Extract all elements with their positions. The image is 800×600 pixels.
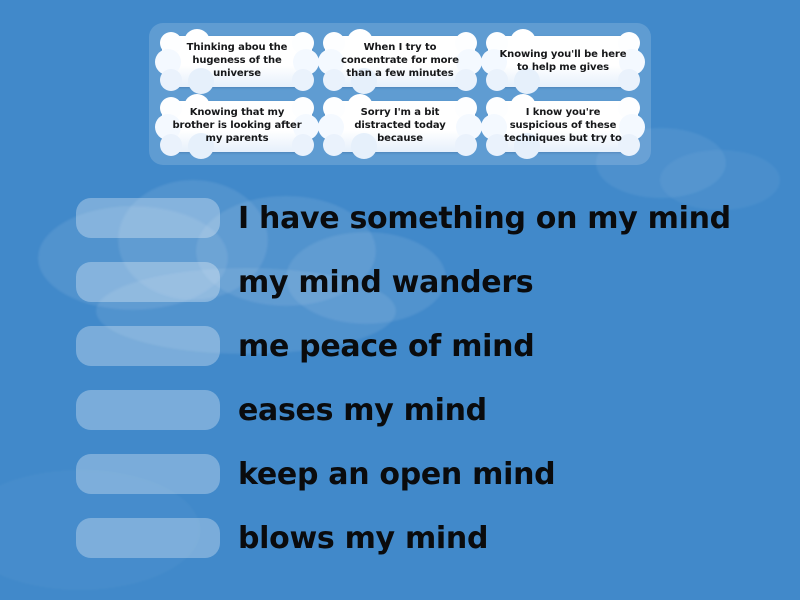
dropzone-4[interactable] <box>76 390 220 430</box>
answer-list: I have something on my mind my mind wand… <box>0 186 800 570</box>
cloud-card-label: Knowing you'll be here to help me gives <box>497 49 629 75</box>
cloud-card-label: Knowing that my brother is looking after… <box>171 107 303 145</box>
answer-row: eases my mind <box>0 378 800 442</box>
dropzone-1[interactable] <box>76 198 220 238</box>
answer-row: I have something on my mind <box>0 186 800 250</box>
dropzone-5[interactable] <box>76 454 220 494</box>
dropzone-3[interactable] <box>76 326 220 366</box>
cloud-card-label: Thinking abou the hugeness of the univer… <box>171 42 303 80</box>
draggable-cloud-card-4[interactable]: Knowing that my brother is looking after… <box>158 96 316 157</box>
answer-text-4: eases my mind <box>238 393 487 428</box>
answer-text-1: I have something on my mind <box>238 201 731 236</box>
draggable-cloud-card-6[interactable]: I know you're suspicious of these techni… <box>484 96 642 157</box>
draggable-cloud-card-5[interactable]: Sorry I'm a bit distracted today because <box>321 96 479 157</box>
answer-text-2: my mind wanders <box>238 265 533 300</box>
answer-row: me peace of mind <box>0 314 800 378</box>
dropzone-6[interactable] <box>76 518 220 558</box>
draggable-cloud-card-2[interactable]: When I try to concentrate for more than … <box>321 31 479 92</box>
cloud-card-label: When I try to concentrate for more than … <box>334 42 466 80</box>
word-bank-panel: Thinking abou the hugeness of the univer… <box>149 23 651 165</box>
answer-text-3: me peace of mind <box>238 329 534 364</box>
answer-row: blows my mind <box>0 506 800 570</box>
answer-text-6: blows my mind <box>238 521 488 556</box>
answer-row: keep an open mind <box>0 442 800 506</box>
answer-row: my mind wanders <box>0 250 800 314</box>
cloud-card-label: I know you're suspicious of these techni… <box>497 107 629 145</box>
draggable-cloud-card-1[interactable]: Thinking abou the hugeness of the univer… <box>158 31 316 92</box>
answer-text-5: keep an open mind <box>238 457 555 492</box>
cloud-card-label: Sorry I'm a bit distracted today because <box>334 107 466 145</box>
dropzone-2[interactable] <box>76 262 220 302</box>
draggable-cloud-card-3[interactable]: Knowing you'll be here to help me gives <box>484 31 642 92</box>
